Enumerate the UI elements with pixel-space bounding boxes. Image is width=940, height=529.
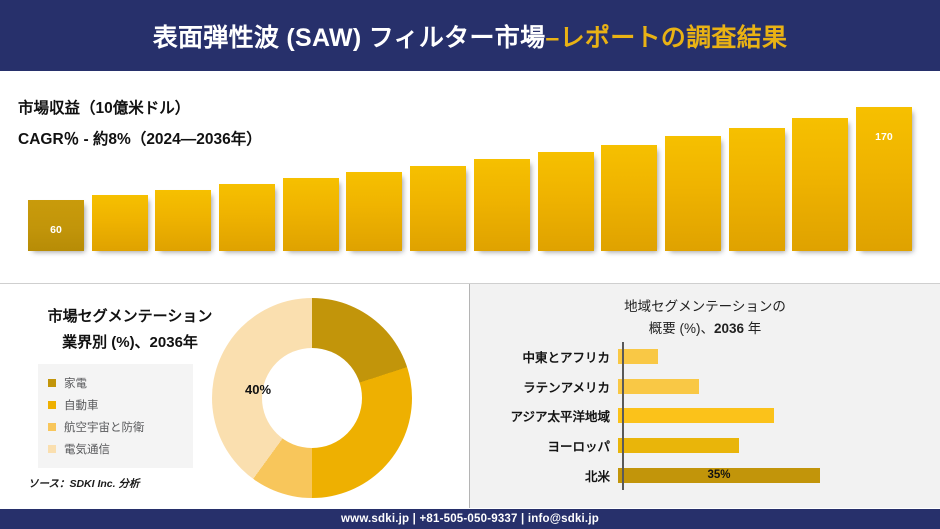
donut-value-label: 40% [230,382,286,397]
footer-contact-text: www.sdki.jp | +81-505-050-9337 | info@sd… [341,513,599,525]
revenue-bar: 170 [856,107,912,251]
segmentation-legend: 家電自動車航空宇宙と防衛電気通信 [38,364,193,468]
revenue-bar [601,145,657,251]
revenue-chart-panel: 市場収益（10億米ドル） CAGR％ - 約8%（2024―2036年） 601… [0,71,940,283]
region-bar-row: 中東とアフリカ [470,342,940,372]
region-bar-track: 35% [618,460,940,490]
revenue-bar-cell [410,166,466,251]
region-title-line1: 地域セグメンテーションの [470,296,940,318]
region-title-year: 2036 [714,321,744,336]
legend-item: 家電 [48,372,187,394]
revenue-bar [155,190,211,251]
revenue-bar-cell: 60 [28,200,84,251]
revenue-bar-cell [729,128,785,251]
region-panel: 地域セグメンテーションの 概要 (%)、2036 年 中東とアフリカラテンアメリ… [470,284,940,508]
region-bar-track [618,401,940,431]
region-title-line2-a: 概要 (%)、 [649,321,714,336]
region-bar-row: ラテンアメリカ [470,372,940,402]
donut-hole [262,348,362,448]
legend-swatch-icon [48,401,56,409]
footer-banner: www.sdki.jp | +81-505-050-9337 | info@sd… [0,509,940,529]
region-bar-track [618,342,940,372]
region-title-line2: 概要 (%)、2036 年 [470,318,940,340]
revenue-bar-cell [665,136,721,251]
revenue-bar [92,195,148,251]
revenue-bar-cell [92,195,148,251]
region-bar-value-label: 35% [618,468,820,483]
revenue-bar-row: 60170 [28,99,912,251]
revenue-bar [346,172,402,251]
header-banner: 表面弾性波 (SAW) フィルター市場–レポートの調査結果 [0,0,940,71]
region-bar-row: ヨーロッパ [470,431,940,461]
legend-item: 電気通信 [48,438,187,460]
region-bar-rows: 中東とアフリカラテンアメリカアジア太平洋地域ヨーロッパ北米35% [470,342,940,490]
region-bar [618,349,658,364]
region-title: 地域セグメンテーションの 概要 (%)、2036 年 [470,296,940,340]
revenue-bar [538,152,594,251]
page-title-accent: –レポートの調査結果 [545,24,787,52]
revenue-bar-cell [219,184,275,251]
revenue-bar-cell [474,159,530,251]
segmentation-donut-chart: 40% [212,298,412,498]
region-bar-track [618,431,940,461]
revenue-bar [792,118,848,251]
region-axis-line [622,342,624,490]
region-category-label: アジア太平洋地域 [470,406,618,425]
revenue-bar [283,178,339,251]
revenue-bar [219,184,275,251]
page-title-main: 表面弾性波 (SAW) フィルター市場 [153,24,546,52]
revenue-bar-cell: 170 [856,107,912,251]
revenue-bar [474,159,530,251]
legend-item-label: 航空宇宙と防衛 [64,419,145,435]
legend-item: 自動車 [48,394,187,416]
legend-swatch-icon [48,445,56,453]
revenue-bar-cell [792,118,848,251]
revenue-bar [729,128,785,251]
legend-item-label: 家電 [64,375,87,391]
region-bar-track [618,372,940,402]
revenue-bar-value-label: 170 [856,131,912,143]
revenue-bar-cell [346,172,402,251]
region-bar [618,438,739,453]
segmentation-panel: 市場セグメンテーション 業界別 (%)、2036年 家電自動車航空宇宙と防衛電気… [0,284,469,508]
revenue-bar [665,136,721,251]
infographic-page: 表面弾性波 (SAW) フィルター市場–レポートの調査結果 市場収益（10億米ド… [0,0,940,529]
revenue-bar: 60 [28,200,84,251]
region-category-label: ラテンアメリカ [470,377,618,396]
source-note: ソース：SDKI Inc. 分析 [28,476,139,491]
region-category-label: 北米 [470,466,618,485]
legend-swatch-icon [48,423,56,431]
region-bar-chart: 中東とアフリカラテンアメリカアジア太平洋地域ヨーロッパ北米35% [470,342,940,490]
revenue-bar-cell [601,145,657,251]
region-category-label: ヨーロッパ [470,436,618,455]
page-title: 表面弾性波 (SAW) フィルター市場–レポートの調査結果 [153,18,788,54]
region-bar [618,379,699,394]
region-category-label: 中東とアフリカ [470,347,618,366]
revenue-bar-value-label: 60 [28,224,84,236]
region-bar-row: アジア太平洋地域 [470,401,940,431]
region-bar: 35% [618,468,820,483]
region-bar-row: 北米35% [470,460,940,490]
legend-item-label: 自動車 [64,397,99,413]
region-title-line2-c: 年 [744,321,761,336]
legend-item: 航空宇宙と防衛 [48,416,187,438]
legend-item-label: 電気通信 [64,441,110,457]
revenue-bars: 60170 [28,171,912,251]
revenue-bar-cell [155,190,211,251]
legend-swatch-icon [48,379,56,387]
region-bar [618,408,774,423]
revenue-bar [410,166,466,251]
revenue-bar-cell [538,152,594,251]
revenue-bar-cell [283,178,339,251]
